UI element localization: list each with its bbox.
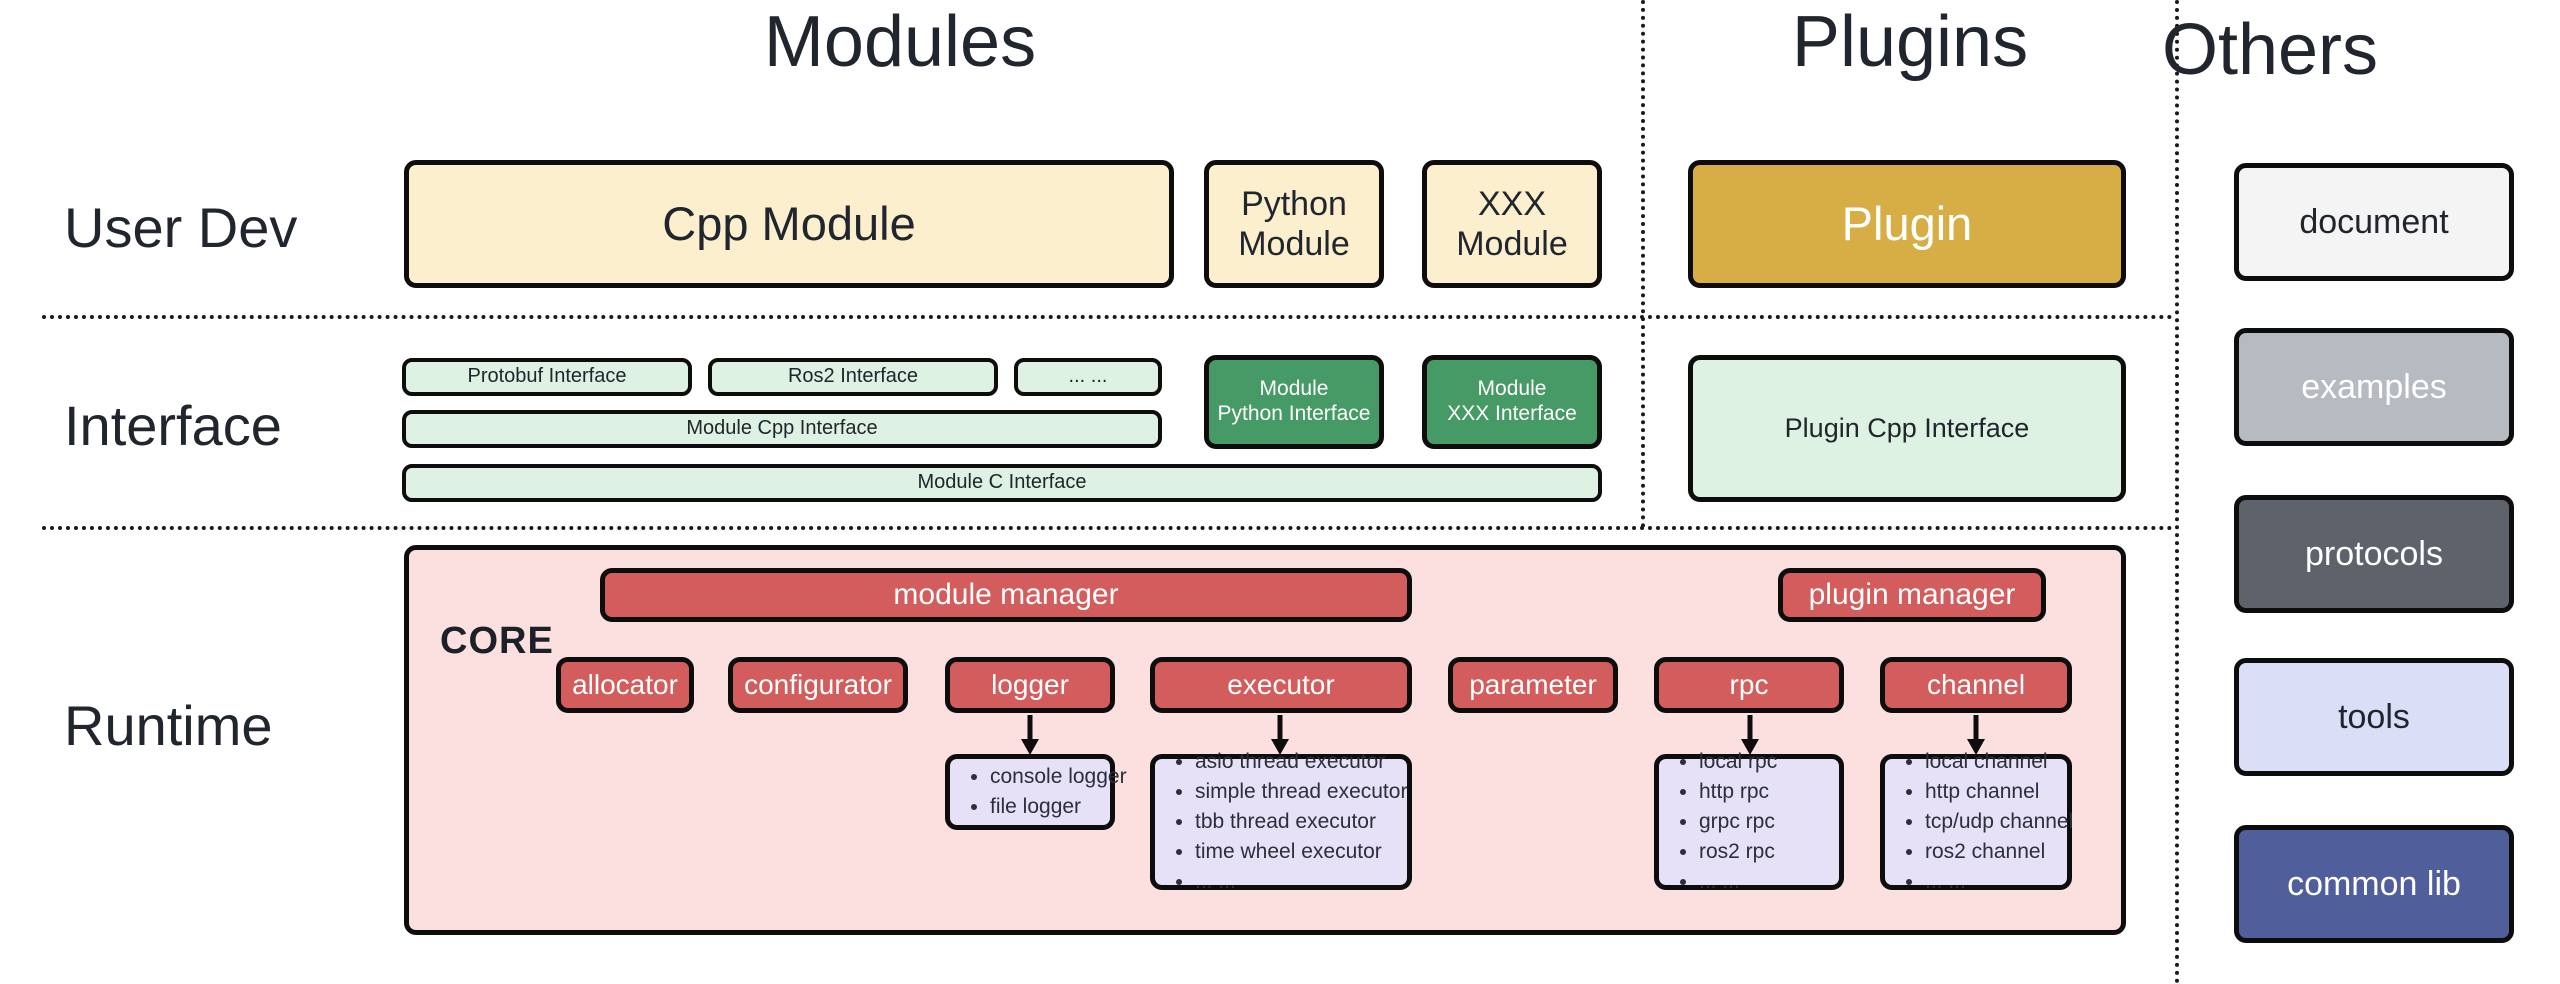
list-item: ... ... xyxy=(1195,867,1395,897)
box-logger[interactable]: logger xyxy=(945,657,1115,713)
box-python-module[interactable]: Python Module xyxy=(1204,160,1384,288)
box-ellipsis-interface[interactable]: ... ... xyxy=(1014,358,1162,396)
box-parameter[interactable]: parameter xyxy=(1448,657,1618,713)
box-module-python-interface[interactable]: Module Python Interface xyxy=(1204,355,1384,449)
box-others-tools[interactable]: tools xyxy=(2234,658,2514,776)
box-module-xxx-interface[interactable]: Module XXX Interface xyxy=(1422,355,1602,449)
list-item: grpc rpc xyxy=(1699,807,1827,837)
list-item: local rpc xyxy=(1699,747,1827,777)
box-executor[interactable]: executor xyxy=(1150,657,1412,713)
list-item: http rpc xyxy=(1699,777,1827,807)
channel-details: local channel http channel tcp/udp chann… xyxy=(1880,754,2072,890)
list-item: ros2 channel xyxy=(1925,837,2055,867)
box-module-cpp-interface[interactable]: Module Cpp Interface xyxy=(402,410,1162,448)
list-item: http channel xyxy=(1925,777,2055,807)
logger-details: console logger file logger xyxy=(945,754,1115,830)
list-item: ros2 rpc xyxy=(1699,837,1827,867)
box-others-document[interactable]: document xyxy=(2234,163,2514,281)
architecture-diagram: Modules Plugins Others User Dev Interfac… xyxy=(0,0,2560,984)
box-allocator[interactable]: allocator xyxy=(556,657,694,713)
box-channel[interactable]: channel xyxy=(1880,657,2072,713)
box-others-protocols[interactable]: protocols xyxy=(2234,495,2514,613)
list-item: time wheel executor xyxy=(1195,837,1395,867)
box-plugin[interactable]: Plugin xyxy=(1688,160,2126,288)
row-label-runtime: Runtime xyxy=(64,698,273,754)
box-others-common-lib[interactable]: common lib xyxy=(2234,825,2514,943)
list-item: simple thread executor xyxy=(1195,777,1395,807)
list-item: tbb thread executor xyxy=(1195,807,1395,837)
column-title-others: Others xyxy=(2070,14,2470,86)
list-item: console logger xyxy=(990,762,1098,792)
box-configurator[interactable]: configurator xyxy=(728,657,908,713)
column-title-modules: Modules xyxy=(700,6,1100,78)
box-xxx-module[interactable]: XXX Module xyxy=(1422,160,1602,288)
row-label-user-dev: User Dev xyxy=(64,200,297,256)
list-item: file logger xyxy=(990,792,1098,822)
divider-modules-plugins xyxy=(1641,0,1645,528)
executor-details: asio thread executor simple thread execu… xyxy=(1150,754,1412,890)
divider-plugins-others xyxy=(2175,0,2179,984)
box-module-c-interface[interactable]: Module C Interface xyxy=(402,464,1602,502)
column-title-plugins: Plugins xyxy=(1710,6,2110,78)
box-plugin-manager[interactable]: plugin manager xyxy=(1778,568,2046,622)
box-module-manager[interactable]: module manager xyxy=(600,568,1412,622)
box-others-examples[interactable]: examples xyxy=(2234,328,2514,446)
logger-details-list: console logger file logger xyxy=(964,762,1098,822)
box-cpp-module[interactable]: Cpp Module xyxy=(404,160,1174,288)
list-item: local channel xyxy=(1925,747,2055,777)
box-ros2-interface[interactable]: Ros2 Interface xyxy=(708,358,998,396)
rpc-details-list: local rpc http rpc grpc rpc ros2 rpc ...… xyxy=(1673,747,1827,896)
executor-details-list: asio thread executor simple thread execu… xyxy=(1169,747,1395,896)
box-rpc[interactable]: rpc xyxy=(1654,657,1844,713)
row-label-interface: Interface xyxy=(64,398,282,454)
list-item: ... ... xyxy=(1699,867,1827,897)
core-label: CORE xyxy=(440,620,554,663)
channel-details-list: local channel http channel tcp/udp chann… xyxy=(1899,747,2055,896)
list-item: ... ... xyxy=(1925,867,2055,897)
arrow-logger-down xyxy=(1018,715,1042,757)
list-item: asio thread executor xyxy=(1195,747,1395,777)
list-item: tcp/udp channel xyxy=(1925,807,2055,837)
divider-userdev-interface xyxy=(42,315,2174,319)
box-protobuf-interface[interactable]: Protobuf Interface xyxy=(402,358,692,396)
box-plugin-cpp-interface[interactable]: Plugin Cpp Interface xyxy=(1688,355,2126,502)
divider-interface-runtime xyxy=(42,526,2174,530)
rpc-details: local rpc http rpc grpc rpc ros2 rpc ...… xyxy=(1654,754,1844,890)
